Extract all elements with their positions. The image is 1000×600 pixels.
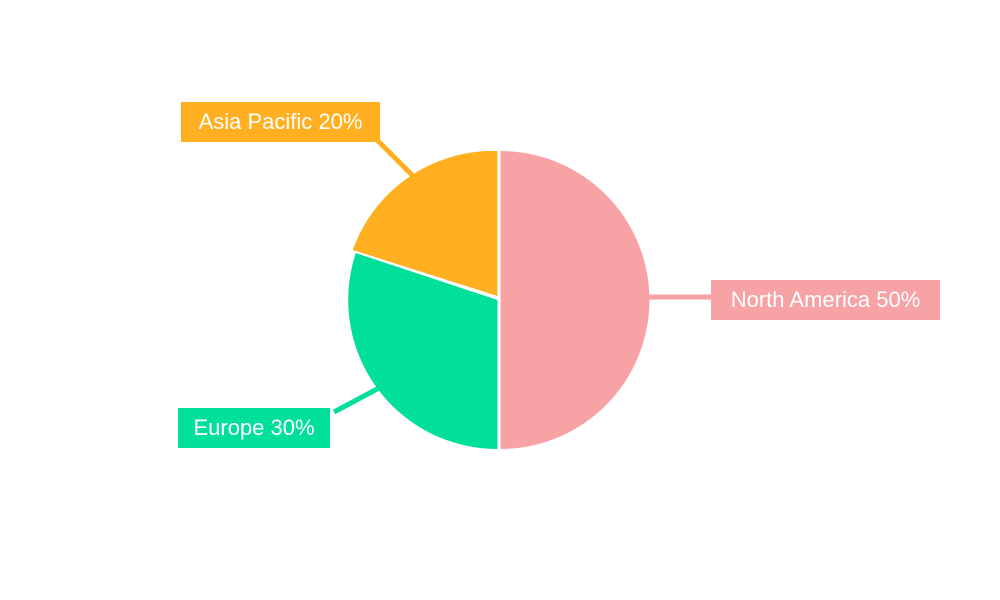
pie-label-europe-text: Europe 30% [193,415,314,441]
pie-label-asia-pacific[interactable]: Asia Pacific 20% [181,102,380,142]
pie-label-europe[interactable]: Europe 30% [178,408,330,448]
pie-slice-north-america[interactable] [501,151,650,449]
pie-chart-figure: North America 50% Europe 30% Asia Pacifi… [0,0,1000,600]
pie-label-north-america-text: North America 50% [731,287,921,313]
leader-line-europe [334,387,381,412]
leader-line-asia-pacific [377,140,417,180]
pie-label-north-america[interactable]: North America 50% [711,280,940,320]
pie-label-asia-pacific-text: Asia Pacific 20% [199,109,363,135]
